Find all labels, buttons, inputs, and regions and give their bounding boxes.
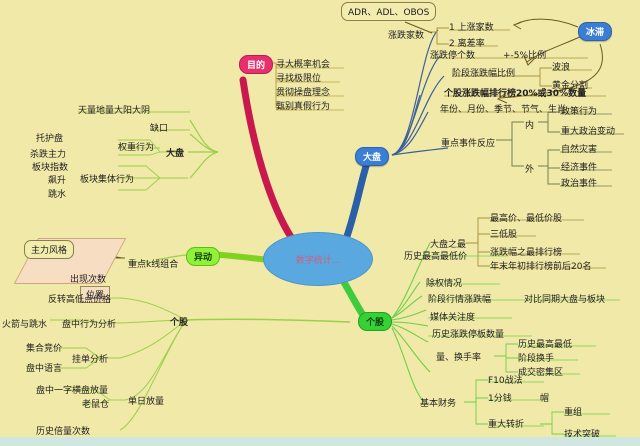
purpose-child-3[interactable]: 甄别真假行为 — [276, 99, 330, 112]
stock-right-group-3-label[interactable]: 阶段行情涨跌幅 — [428, 292, 491, 305]
mindmap-canvas: 数字统计... 目的 寻大概率机会 寻找极限位 贯彻操盘理念 甄别真假行为 AD… — [0, 0, 640, 446]
badge-market-label: 大盘 — [363, 153, 381, 163]
market-group-0-label[interactable]: 涨跌家数 — [388, 28, 424, 41]
center-node-label: 数字统计... — [296, 253, 341, 266]
stock-left-child-2-sub-1[interactable]: 盘中语言 — [26, 361, 62, 374]
market-group-5-label[interactable]: 重点事件反应 — [441, 136, 495, 149]
badge-abnormal[interactable]: 异动 — [186, 247, 220, 266]
main-style-box[interactable]: 主力风格 — [24, 240, 74, 259]
purpose-child-1[interactable]: 寻找极限位 — [276, 71, 321, 84]
stock-left-label[interactable]: 个股 — [170, 315, 188, 328]
index-left-child-3-sub-0[interactable]: 板块指数 — [32, 160, 68, 173]
stock-right-group-7-child-2-sub-0[interactable]: 重组 — [564, 405, 582, 418]
stock-left-child-2[interactable]: 挂单分析 — [72, 352, 108, 365]
index-left-label[interactable]: 大盘 — [166, 146, 184, 159]
stock-right-group-1-label[interactable]: 历史最高最低价 — [404, 249, 467, 262]
stock-right-group-4-label[interactable]: 媒体关注度 — [430, 310, 475, 323]
stock-right-group-0-child-0[interactable]: 最高价、最低价股 — [490, 211, 562, 224]
stock-right-group-0-child-3[interactable]: 年末年初排行榜前后20名 — [490, 259, 591, 272]
market-outer-label[interactable]: 外 — [525, 162, 534, 175]
market-group-3-label[interactable]: 个股涨跌幅排行榜20%或30%数量 — [444, 86, 586, 99]
stock-right-group-0-child-1[interactable]: 三低股 — [490, 227, 517, 240]
index-left-child-1[interactable]: 缺口 — [150, 121, 168, 134]
badge-cold[interactable]: 冰滞 — [578, 22, 612, 41]
market-outer-child-1[interactable]: 经济事件 — [561, 160, 597, 173]
index-left-child-0[interactable]: 天量地量大阳大阴 — [78, 103, 150, 116]
stock-right-group-5-label[interactable]: 历史涨跌停板数量 — [432, 327, 504, 340]
market-group-4-label[interactable]: 年份、月份、季节、节气、生肖 — [440, 102, 566, 115]
market-group-0-child-0[interactable]: 1 上涨家数 — [449, 20, 494, 33]
stock-right-group-7-child-1[interactable]: 1分钱 — [488, 391, 512, 404]
stock-right-group-7-child-1-sub-0[interactable]: 帽 — [540, 391, 549, 404]
market-outer-child-2[interactable]: 政治事件 — [561, 176, 597, 189]
stock-right-group-7-child-0[interactable]: F10战法 — [488, 373, 523, 386]
stock-left-child-1[interactable]: 盘中行为分析 — [62, 317, 116, 330]
index-left-child-2[interactable]: 权重行为 — [118, 140, 154, 153]
stock-right-group-3-child-0[interactable]: 对比同期大盘与板块 — [524, 292, 605, 305]
stock-right-group-6-label[interactable]: 量、换手率 — [436, 350, 481, 363]
badge-stock[interactable]: 个股 — [358, 312, 392, 331]
index-left-child-3-sub-1[interactable]: 飙升 — [48, 173, 66, 186]
center-node[interactable]: 数字统计... — [263, 232, 373, 286]
badge-purpose[interactable]: 目的 — [239, 55, 273, 74]
market-group-1-child-0[interactable]: +-5%比例 — [503, 48, 546, 61]
stock-right-group-7-child-2[interactable]: 重大转折 — [488, 417, 524, 430]
stock-left-child-1-sub-0[interactable]: 火箭与跳水 — [2, 317, 47, 330]
stock-right-group-7-label[interactable]: 基本财务 — [420, 396, 456, 409]
stock-right-group-6-child-0[interactable]: 历史最高最低 — [518, 337, 572, 350]
index-left-child-3[interactable]: 板块集体行为 — [80, 172, 134, 185]
badge-abnormal-label: 异动 — [194, 253, 212, 263]
purpose-child-0[interactable]: 寻大概率机会 — [276, 57, 330, 70]
stock-left-child-4[interactable]: 历史倍量次数 — [36, 424, 90, 437]
badge-cold-label: 冰滞 — [586, 28, 604, 38]
badge-market[interactable]: 大盘 — [355, 147, 389, 166]
stock-right-group-6-child-2[interactable]: 成交密集区 — [518, 365, 563, 378]
badge-purpose-label: 目的 — [247, 61, 265, 71]
index-left-child-2-sub-0[interactable]: 托护盘 — [36, 131, 63, 144]
stock-left-child-3-sub-0[interactable]: 盘中一字横盘放量 — [36, 383, 108, 396]
market-group-2-label[interactable]: 阶段涨跌幅比例 — [452, 66, 515, 79]
index-left-child-3-sub-2[interactable]: 跳水 — [48, 187, 66, 200]
stock-right-group-2-label[interactable]: 除权情况 — [426, 276, 462, 289]
purpose-child-2[interactable]: 贯彻操盘理念 — [276, 85, 330, 98]
stock-right-group-0-child-2[interactable]: 涨跌幅之最排行榜 — [490, 245, 562, 258]
abnormal-child-0[interactable]: 重点k线组合 — [128, 257, 178, 270]
stock-left-child-0[interactable]: 反转高低点价格 — [48, 292, 111, 305]
badge-stock-label: 个股 — [366, 318, 384, 328]
market-group-2-child-0[interactable]: 波浪 — [552, 60, 570, 73]
stock-left-child-3-sub-1[interactable]: 老鼠仓 — [82, 397, 109, 410]
adr-annotation[interactable]: ADR、ADL、OBOS — [341, 2, 436, 21]
market-inner-label[interactable]: 内 — [525, 118, 534, 131]
market-inner-child-0[interactable]: 政策行为 — [561, 104, 597, 117]
market-group-1-label[interactable]: 涨跌停个数 — [430, 48, 475, 61]
stock-left-child-2-sub-0[interactable]: 集合竞价 — [26, 341, 62, 354]
market-outer-child-0[interactable]: 自然灾害 — [561, 142, 597, 155]
market-inner-child-1[interactable]: 重大政治变动 — [561, 124, 615, 137]
index-left-child-2-sub-1[interactable]: 杀跌主力 — [30, 147, 66, 160]
stock-left-child-3[interactable]: 单日放量 — [128, 394, 164, 407]
occurrence-count[interactable]: 出现次数 — [70, 272, 106, 285]
bottom-bar — [0, 437, 640, 446]
stock-right-group-6-child-1[interactable]: 阶段换手 — [518, 351, 554, 364]
